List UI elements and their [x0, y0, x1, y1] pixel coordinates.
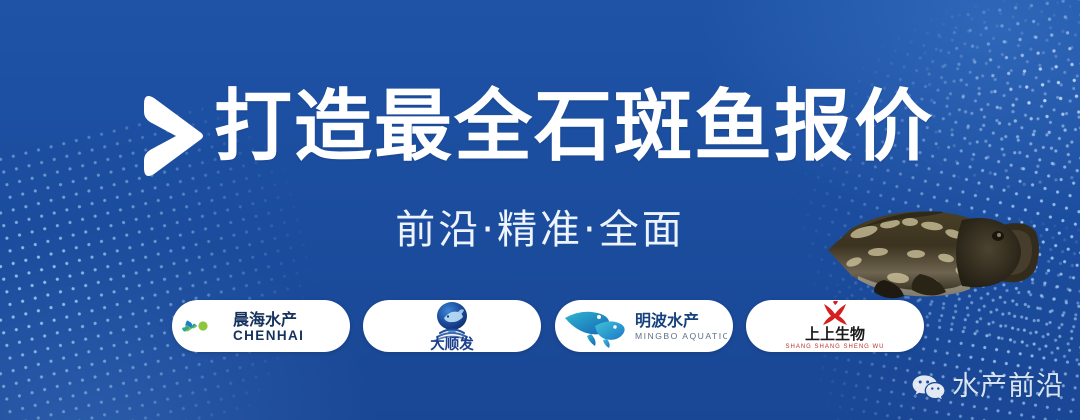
chenhai-name-cn: 晨海水产	[233, 310, 297, 329]
partner-badge-chenhai[interactable]: 晨海水产 CHENHAI	[172, 300, 350, 352]
dashunfa-name-cn: 大顺发	[431, 335, 475, 351]
partner-badge-mingbo[interactable]: 明波水产 MINGBO AQUATIC	[555, 300, 733, 352]
chenhai-name-en: CHENHAI	[233, 328, 304, 343]
chenhai-circle-logo-icon: 晨海水产 CHENHAI	[181, 304, 341, 348]
dashunfa-fish-circle-logo-icon: 大顺发	[392, 301, 512, 351]
mingbo-fish-logo-icon: 明波水产 MINGBO AQUATIC	[561, 304, 727, 348]
mingbo-name-cn: 明波水产	[635, 311, 699, 330]
shangshang-name-cn: 上上生物	[805, 325, 865, 343]
mingbo-name-en: MINGBO AQUATIC	[635, 331, 727, 341]
shangshang-name-en: SHANG SHANG SHENG WU	[785, 344, 884, 350]
wechat-icon	[911, 373, 945, 401]
partner-logo-row: 晨海水产 CHENHAI	[172, 300, 924, 352]
page-title: 打造最全石斑鱼报价	[214, 79, 934, 175]
shangshang-x-logo-icon: 上上生物 SHANG SHANG SHENG WU	[770, 301, 900, 351]
watermark-label: 水产前沿	[952, 372, 1064, 402]
chevron-right-icon	[140, 88, 212, 184]
partner-badge-dashunfa[interactable]: 大顺发	[363, 300, 541, 352]
wechat-watermark: 水产前沿	[911, 372, 1064, 402]
promo-banner: 打造最全石斑鱼报价 前沿·精准·全面	[0, 0, 1080, 420]
partner-badge-shangshang[interactable]: 上上生物 SHANG SHANG SHENG WU	[746, 300, 924, 352]
